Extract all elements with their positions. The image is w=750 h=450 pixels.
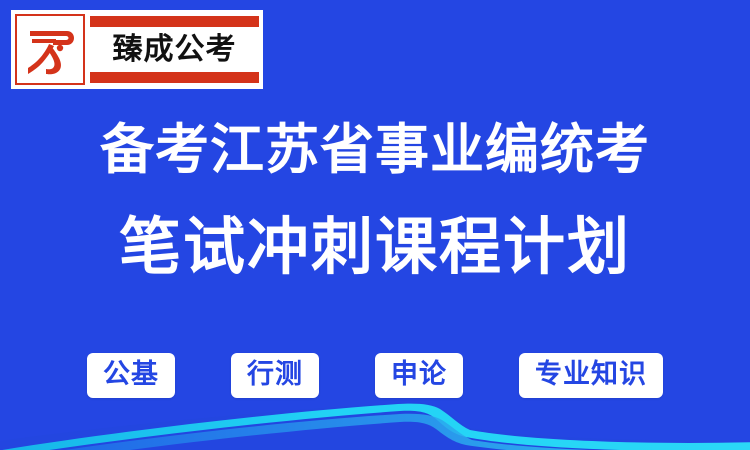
headline-line-1: 备考江苏省事业编统考 [0, 118, 750, 182]
promo-banner: 臻成公考 备考江苏省事业编统考 笔试冲刺课程计划 公基 行测 申论 专业知识 [0, 0, 750, 450]
subject-tag-xingce[interactable]: 行测 [231, 353, 319, 398]
brand-name: 臻成公考 [90, 34, 259, 66]
subject-tag-list: 公基 行测 申论 专业知识 [0, 353, 750, 398]
subject-tag-zhuanye[interactable]: 专业知识 [519, 353, 663, 398]
zhencheng-bird-mark-icon [15, 14, 85, 85]
logo-bar-bottom [90, 72, 259, 83]
subject-tag-shenlun[interactable]: 申论 [375, 353, 463, 398]
headline-line-2: 笔试冲刺课程计划 [0, 210, 750, 283]
brand-text-block: 臻成公考 [90, 14, 259, 85]
headline-block: 备考江苏省事业编统考 笔试冲刺课程计划 [0, 118, 750, 283]
logo-bar-top [90, 16, 259, 27]
brand-logo[interactable]: 臻成公考 [11, 10, 263, 89]
subject-tag-gongji[interactable]: 公基 [87, 353, 175, 398]
